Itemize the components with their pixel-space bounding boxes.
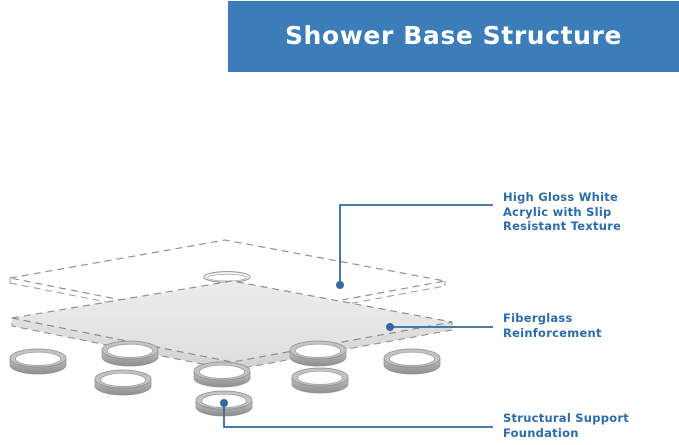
drain-ellipse-inner [208, 274, 247, 281]
support-ring [102, 341, 158, 366]
callout-label-acrylic: High Gloss White Acrylic with Slip Resis… [503, 190, 673, 234]
leader-dot-acrylic [336, 281, 344, 289]
support-ring [292, 368, 348, 393]
callout-label-support: Structural Support Foundation [503, 411, 675, 440]
support-ring [384, 349, 440, 374]
leader-dot-support [220, 399, 228, 407]
leader-dot-fiberglass [386, 323, 394, 331]
leader-line-acrylic [340, 205, 493, 285]
support-ring [10, 349, 66, 374]
callout-label-fiberglass: Fiberglass Reinforcement [503, 311, 673, 340]
leader-line-support [224, 403, 493, 427]
fiberglass-slab-top [12, 281, 452, 362]
support-ring [290, 341, 346, 366]
support-ring [95, 370, 151, 395]
support-ring [194, 362, 250, 387]
diagram-canvas: Shower Base Structure [0, 0, 679, 445]
